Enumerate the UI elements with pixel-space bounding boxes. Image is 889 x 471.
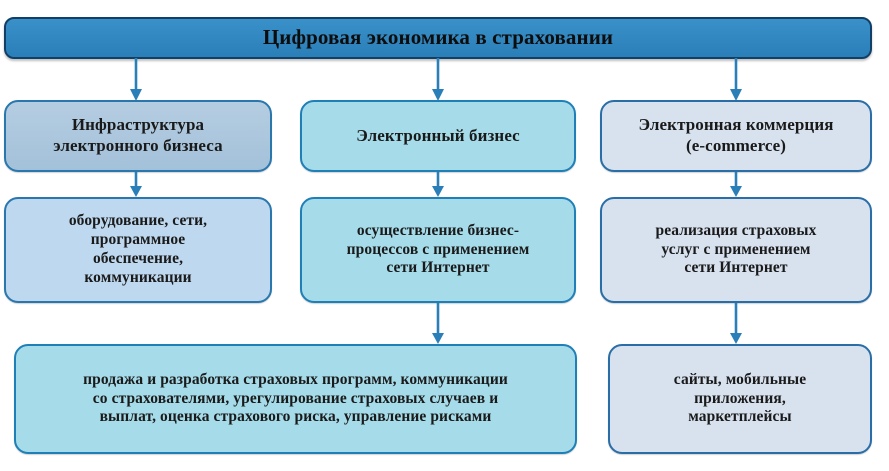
arrow-services-to-channels-icon	[725, 303, 747, 345]
node-equipment[interactable]: оборудование, сети, программное обеспече…	[4, 197, 272, 303]
diagram-title-text: Цифровая экономика в страховании	[16, 25, 860, 51]
arrow-title-to-e-commerce-icon	[725, 58, 747, 102]
node-infrastructure-label: Инфраструктура электронного бизнеса	[16, 115, 260, 156]
node-equipment-label: оборудование, сети, программное обеспече…	[16, 212, 260, 288]
node-e-commerce[interactable]: Электронная коммерция (e-commerce)	[600, 100, 872, 172]
node-e-business-label: Электронный бизнес	[312, 126, 564, 147]
arrow-e-commerce-to-services-icon	[725, 172, 747, 198]
node-sales-and-servicing[interactable]: продажа и разработка страховых программ,…	[14, 344, 577, 454]
flowchart-diagram: Цифровая экономика в страховании Инфраст…	[0, 0, 889, 471]
node-e-commerce-label: Электронная коммерция (e-commerce)	[612, 115, 860, 156]
node-business-processes[interactable]: осуществление бизнес- процессов с примен…	[300, 197, 576, 303]
node-infrastructure[interactable]: Инфраструктура электронного бизнеса	[4, 100, 272, 172]
node-insurance-services[interactable]: реализация страховых услуг с применением…	[600, 197, 872, 303]
node-business-processes-label: осуществление бизнес- процессов с примен…	[312, 222, 564, 279]
diagram-title-box: Цифровая экономика в страховании	[4, 17, 872, 59]
node-digital-channels[interactable]: сайты, мобильные приложения, маркетплейс…	[608, 344, 872, 454]
node-insurance-services-label: реализация страховых услуг с применением…	[612, 222, 860, 279]
arrow-title-to-infrastructure-icon	[125, 58, 147, 102]
node-sales-and-servicing-label: продажа и разработка страховых программ,…	[26, 371, 565, 428]
arrow-e-business-to-processes-icon	[427, 172, 449, 198]
node-digital-channels-label: сайты, мобильные приложения, маркетплейс…	[620, 371, 860, 428]
arrow-infrastructure-to-equipment-icon	[125, 172, 147, 198]
arrow-title-to-e-business-icon	[427, 58, 449, 102]
arrow-processes-to-sales-icon	[427, 303, 449, 345]
node-e-business[interactable]: Электронный бизнес	[300, 100, 576, 172]
